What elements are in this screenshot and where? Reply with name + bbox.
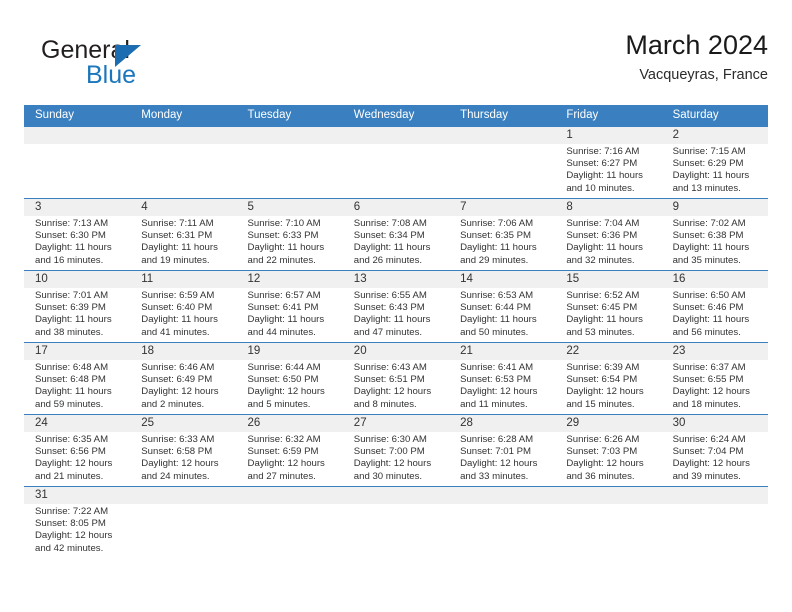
day-number: 12 [248,271,337,288]
day-daylight-line1: Daylight: 11 hours [248,314,337,326]
day-sunset: Sunset: 6:53 PM [460,374,549,386]
day-sunrise: Sunrise: 6:26 AM [566,434,655,446]
day-daylight-line2: and 24 minutes. [141,471,230,483]
day-sunset: Sunset: 6:48 PM [35,374,124,386]
day-daylight-line1: Daylight: 11 hours [35,386,124,398]
day-sun-info: Sunrise: 7:08 AMSunset: 6:34 PMDaylight:… [354,218,443,267]
day-cell[interactable]: 5Sunrise: 7:10 AMSunset: 6:33 PMDaylight… [237,199,343,270]
day-cell[interactable]: 11Sunrise: 6:59 AMSunset: 6:40 PMDayligh… [130,271,236,342]
day-sun-info: Sunrise: 6:24 AMSunset: 7:04 PMDaylight:… [673,434,762,483]
day-number: 7 [460,199,549,216]
day-sunset: Sunset: 7:04 PM [673,446,762,458]
calendar-week-row: 31Sunrise: 7:22 AMSunset: 8:05 PMDayligh… [24,486,768,564]
day-cell[interactable]: 12Sunrise: 6:57 AMSunset: 6:41 PMDayligh… [237,271,343,342]
day-number: 17 [35,343,124,360]
day-number: 3 [35,199,124,216]
day-sunset: Sunset: 6:58 PM [141,446,230,458]
day-number: 9 [673,199,762,216]
weekday-header-saturday: Saturday [662,105,768,126]
day-cell-empty [343,127,449,198]
day-daylight-line1: Daylight: 12 hours [35,458,124,470]
day-daylight-line1: Daylight: 11 hours [354,242,443,254]
day-daylight-line2: and 27 minutes. [248,471,337,483]
day-number: 6 [354,199,443,216]
day-sun-info: Sunrise: 6:48 AMSunset: 6:48 PMDaylight:… [35,362,124,411]
day-daylight-line1: Daylight: 11 hours [141,314,230,326]
day-daylight-line2: and 19 minutes. [141,255,230,267]
day-number: 4 [141,199,230,216]
title-block: March 2024 Vacqueyras, France [348,28,768,86]
day-sunrise: Sunrise: 7:15 AM [673,146,762,158]
day-number: 11 [141,271,230,288]
day-sun-info: Sunrise: 6:44 AMSunset: 6:50 PMDaylight:… [248,362,337,411]
day-sunset: Sunset: 6:29 PM [673,158,762,170]
day-sunset: Sunset: 6:34 PM [354,230,443,242]
day-sunset: Sunset: 6:38 PM [673,230,762,242]
day-daylight-line2: and 59 minutes. [35,399,124,411]
day-sunset: Sunset: 6:55 PM [673,374,762,386]
day-daylight-line2: and 26 minutes. [354,255,443,267]
day-sunset: Sunset: 6:45 PM [566,302,655,314]
calendar-page: General Blue March 2024 Vacqueyras, Fran… [0,0,792,612]
day-sun-info: Sunrise: 6:39 AMSunset: 6:54 PMDaylight:… [566,362,655,411]
day-daylight-line2: and 39 minutes. [673,471,762,483]
day-sun-info: Sunrise: 7:11 AMSunset: 6:31 PMDaylight:… [141,218,230,267]
day-sunset: Sunset: 7:00 PM [354,446,443,458]
day-daylight-line1: Daylight: 11 hours [35,242,124,254]
day-cell[interactable]: 17Sunrise: 6:48 AMSunset: 6:48 PMDayligh… [24,343,130,414]
day-daylight-line2: and 18 minutes. [673,399,762,411]
day-sun-info: Sunrise: 6:57 AMSunset: 6:41 PMDaylight:… [248,290,337,339]
calendar-week-row: 3Sunrise: 7:13 AMSunset: 6:30 PMDaylight… [24,198,768,270]
day-sunset: Sunset: 6:49 PM [141,374,230,386]
day-cell[interactable]: 31Sunrise: 7:22 AMSunset: 8:05 PMDayligh… [24,487,130,564]
day-cell[interactable]: 21Sunrise: 6:41 AMSunset: 6:53 PMDayligh… [449,343,555,414]
day-cell[interactable]: 7Sunrise: 7:06 AMSunset: 6:35 PMDaylight… [449,199,555,270]
day-cell[interactable]: 28Sunrise: 6:28 AMSunset: 7:01 PMDayligh… [449,415,555,486]
day-sun-info: Sunrise: 6:30 AMSunset: 7:00 PMDaylight:… [354,434,443,483]
day-daylight-line2: and 11 minutes. [460,399,549,411]
weekday-header-wednesday: Wednesday [343,105,449,126]
day-sun-info: Sunrise: 7:04 AMSunset: 6:36 PMDaylight:… [566,218,655,267]
day-daylight-line2: and 32 minutes. [566,255,655,267]
calendar-grid: SundayMondayTuesdayWednesdayThursdayFrid… [24,105,768,564]
day-daylight-line1: Daylight: 11 hours [673,314,762,326]
day-daylight-line2: and 8 minutes. [354,399,443,411]
day-sunset: Sunset: 6:35 PM [460,230,549,242]
day-sun-info: Sunrise: 7:10 AMSunset: 6:33 PMDaylight:… [248,218,337,267]
day-cell[interactable]: 16Sunrise: 6:50 AMSunset: 6:46 PMDayligh… [662,271,768,342]
day-daylight-line1: Daylight: 11 hours [566,314,655,326]
day-sun-info: Sunrise: 6:53 AMSunset: 6:44 PMDaylight:… [460,290,549,339]
day-daylight-line1: Daylight: 12 hours [248,458,337,470]
day-daylight-line2: and 36 minutes. [566,471,655,483]
day-sun-info: Sunrise: 6:37 AMSunset: 6:55 PMDaylight:… [673,362,762,411]
day-cell[interactable]: 1Sunrise: 7:16 AMSunset: 6:27 PMDaylight… [555,127,661,198]
day-number: 5 [248,199,337,216]
day-sun-info: Sunrise: 6:46 AMSunset: 6:49 PMDaylight:… [141,362,230,411]
day-daylight-line1: Daylight: 11 hours [673,242,762,254]
day-sunset: Sunset: 6:36 PM [566,230,655,242]
day-cell[interactable]: 29Sunrise: 6:26 AMSunset: 7:03 PMDayligh… [555,415,661,486]
day-daylight-line2: and 2 minutes. [141,399,230,411]
day-sunset: Sunset: 6:40 PM [141,302,230,314]
day-daylight-line1: Daylight: 11 hours [35,314,124,326]
day-sunrise: Sunrise: 7:02 AM [673,218,762,230]
day-sunrise: Sunrise: 6:44 AM [248,362,337,374]
day-number: 1 [566,127,655,144]
day-daylight-line2: and 30 minutes. [354,471,443,483]
day-cell[interactable]: 25Sunrise: 6:33 AMSunset: 6:58 PMDayligh… [130,415,236,486]
day-cell-empty [343,487,449,564]
day-sunset: Sunset: 7:03 PM [566,446,655,458]
day-sunrise: Sunrise: 7:10 AM [248,218,337,230]
day-sunset: Sunset: 6:50 PM [248,374,337,386]
day-sunset: Sunset: 6:39 PM [35,302,124,314]
day-daylight-line1: Daylight: 12 hours [35,530,124,542]
day-daylight-line1: Daylight: 12 hours [460,386,549,398]
day-sunrise: Sunrise: 7:11 AM [141,218,230,230]
day-number: 13 [354,271,443,288]
day-daylight-line2: and 22 minutes. [248,255,337,267]
day-cell[interactable]: 19Sunrise: 6:44 AMSunset: 6:50 PMDayligh… [237,343,343,414]
day-sun-info: Sunrise: 7:13 AMSunset: 6:30 PMDaylight:… [35,218,124,267]
day-daylight-line1: Daylight: 12 hours [141,386,230,398]
day-sunset: Sunset: 6:59 PM [248,446,337,458]
day-daylight-line2: and 53 minutes. [566,327,655,339]
day-daylight-line1: Daylight: 11 hours [460,314,549,326]
day-sunset: Sunset: 6:44 PM [460,302,549,314]
day-sun-info: Sunrise: 6:28 AMSunset: 7:01 PMDaylight:… [460,434,549,483]
day-daylight-line2: and 41 minutes. [141,327,230,339]
day-daylight-line1: Daylight: 11 hours [248,242,337,254]
day-sunset: Sunset: 6:51 PM [354,374,443,386]
general-blue-logo[interactable]: General Blue [41,36,271,96]
day-sunrise: Sunrise: 7:04 AM [566,218,655,230]
day-number: 15 [566,271,655,288]
day-sunrise: Sunrise: 6:30 AM [354,434,443,446]
day-sunset: Sunset: 6:30 PM [35,230,124,242]
day-sunset: Sunset: 6:31 PM [141,230,230,242]
day-number: 26 [248,415,337,432]
day-number: 21 [460,343,549,360]
day-sunrise: Sunrise: 6:57 AM [248,290,337,302]
day-number: 8 [566,199,655,216]
day-sunset: Sunset: 6:41 PM [248,302,337,314]
day-cell[interactable]: 15Sunrise: 6:52 AMSunset: 6:45 PMDayligh… [555,271,661,342]
day-cell-empty [449,127,555,198]
page-header: General Blue March 2024 Vacqueyras, Fran… [24,28,768,100]
day-cell[interactable]: 20Sunrise: 6:43 AMSunset: 6:51 PMDayligh… [343,343,449,414]
day-cell-empty [449,487,555,564]
day-cell[interactable]: 26Sunrise: 6:32 AMSunset: 6:59 PMDayligh… [237,415,343,486]
day-cell[interactable]: 10Sunrise: 7:01 AMSunset: 6:39 PMDayligh… [24,271,130,342]
calendar-week-row: 17Sunrise: 6:48 AMSunset: 6:48 PMDayligh… [24,342,768,414]
day-sunrise: Sunrise: 7:06 AM [460,218,549,230]
day-number: 19 [248,343,337,360]
weekday-header-friday: Friday [555,105,661,126]
day-cell[interactable]: 14Sunrise: 6:53 AMSunset: 6:44 PMDayligh… [449,271,555,342]
day-daylight-line1: Daylight: 11 hours [460,242,549,254]
day-sunrise: Sunrise: 6:35 AM [35,434,124,446]
day-sun-info: Sunrise: 6:52 AMSunset: 6:45 PMDaylight:… [566,290,655,339]
day-daylight-line1: Daylight: 11 hours [673,170,762,182]
day-sun-info: Sunrise: 7:22 AMSunset: 8:05 PMDaylight:… [35,506,124,555]
day-number: 16 [673,271,762,288]
day-sun-info: Sunrise: 7:02 AMSunset: 6:38 PMDaylight:… [673,218,762,267]
day-cell-empty [24,127,130,198]
day-daylight-line2: and 10 minutes. [566,183,655,195]
day-daylight-line2: and 56 minutes. [673,327,762,339]
day-number: 20 [354,343,443,360]
day-daylight-line1: Daylight: 12 hours [566,458,655,470]
day-daylight-line2: and 21 minutes. [35,471,124,483]
day-sunset: Sunset: 6:46 PM [673,302,762,314]
day-number: 23 [673,343,762,360]
day-cell[interactable]: 6Sunrise: 7:08 AMSunset: 6:34 PMDaylight… [343,199,449,270]
weekday-header-row: SundayMondayTuesdayWednesdayThursdayFrid… [24,105,768,126]
day-daylight-line2: and 47 minutes. [354,327,443,339]
day-daylight-line1: Daylight: 12 hours [673,386,762,398]
day-daylight-line2: and 15 minutes. [566,399,655,411]
day-sun-info: Sunrise: 7:01 AMSunset: 6:39 PMDaylight:… [35,290,124,339]
day-sunrise: Sunrise: 7:08 AM [354,218,443,230]
day-number: 31 [35,487,124,504]
day-daylight-line2: and 35 minutes. [673,255,762,267]
day-sun-info: Sunrise: 6:35 AMSunset: 6:56 PMDaylight:… [35,434,124,483]
logo-text-blue: Blue [86,61,136,90]
day-sunrise: Sunrise: 7:13 AM [35,218,124,230]
day-daylight-line1: Daylight: 11 hours [566,242,655,254]
weekday-header-sunday: Sunday [24,105,130,126]
day-sunrise: Sunrise: 7:16 AM [566,146,655,158]
day-daylight-line2: and 38 minutes. [35,327,124,339]
day-sunrise: Sunrise: 7:01 AM [35,290,124,302]
day-sunset: Sunset: 7:01 PM [460,446,549,458]
day-cell[interactable]: 23Sunrise: 6:37 AMSunset: 6:55 PMDayligh… [662,343,768,414]
day-sun-info: Sunrise: 7:16 AMSunset: 6:27 PMDaylight:… [566,146,655,195]
day-daylight-line1: Daylight: 11 hours [141,242,230,254]
day-sunrise: Sunrise: 6:43 AM [354,362,443,374]
day-daylight-line1: Daylight: 12 hours [566,386,655,398]
day-daylight-line1: Daylight: 12 hours [141,458,230,470]
day-cell[interactable]: 30Sunrise: 6:24 AMSunset: 7:04 PMDayligh… [662,415,768,486]
day-sunrise: Sunrise: 6:52 AM [566,290,655,302]
calendar-week-row: 1Sunrise: 7:16 AMSunset: 6:27 PMDaylight… [24,126,768,198]
day-daylight-line1: Daylight: 12 hours [354,458,443,470]
day-sunset: Sunset: 6:54 PM [566,374,655,386]
weekday-header-tuesday: Tuesday [237,105,343,126]
day-sunset: Sunset: 6:56 PM [35,446,124,458]
day-sunrise: Sunrise: 6:53 AM [460,290,549,302]
day-cell[interactable]: 27Sunrise: 6:30 AMSunset: 7:00 PMDayligh… [343,415,449,486]
day-number: 29 [566,415,655,432]
day-sunset: Sunset: 6:27 PM [566,158,655,170]
day-cell[interactable]: 18Sunrise: 6:46 AMSunset: 6:49 PMDayligh… [130,343,236,414]
day-sunrise: Sunrise: 6:37 AM [673,362,762,374]
day-daylight-line2: and 16 minutes. [35,255,124,267]
day-daylight-line2: and 33 minutes. [460,471,549,483]
day-daylight-line2: and 50 minutes. [460,327,549,339]
day-sun-info: Sunrise: 6:33 AMSunset: 6:58 PMDaylight:… [141,434,230,483]
calendar-week-row: 24Sunrise: 6:35 AMSunset: 6:56 PMDayligh… [24,414,768,486]
day-daylight-line1: Daylight: 11 hours [354,314,443,326]
day-number: 2 [673,127,762,144]
day-sunset: Sunset: 6:43 PM [354,302,443,314]
day-number: 30 [673,415,762,432]
day-cell[interactable]: 8Sunrise: 7:04 AMSunset: 6:36 PMDaylight… [555,199,661,270]
day-sunset: Sunset: 6:33 PM [248,230,337,242]
calendar-week-row: 10Sunrise: 7:01 AMSunset: 6:39 PMDayligh… [24,270,768,342]
day-sun-info: Sunrise: 6:41 AMSunset: 6:53 PMDaylight:… [460,362,549,411]
day-sun-info: Sunrise: 7:15 AMSunset: 6:29 PMDaylight:… [673,146,762,195]
day-sunrise: Sunrise: 6:28 AM [460,434,549,446]
day-sun-info: Sunrise: 7:06 AMSunset: 6:35 PMDaylight:… [460,218,549,267]
day-sunrise: Sunrise: 6:41 AM [460,362,549,374]
day-sunrise: Sunrise: 6:50 AM [673,290,762,302]
day-number: 25 [141,415,230,432]
day-cell-empty [130,127,236,198]
day-sunrise: Sunrise: 6:59 AM [141,290,230,302]
day-daylight-line2: and 5 minutes. [248,399,337,411]
day-sunrise: Sunrise: 6:48 AM [35,362,124,374]
day-sun-info: Sunrise: 6:59 AMSunset: 6:40 PMDaylight:… [141,290,230,339]
day-number: 10 [35,271,124,288]
day-cell[interactable]: 22Sunrise: 6:39 AMSunset: 6:54 PMDayligh… [555,343,661,414]
day-cell[interactable]: 24Sunrise: 6:35 AMSunset: 6:56 PMDayligh… [24,415,130,486]
day-daylight-line2: and 42 minutes. [35,543,124,555]
day-cell-empty [130,487,236,564]
day-daylight-line1: Daylight: 11 hours [566,170,655,182]
day-cell[interactable]: 13Sunrise: 6:55 AMSunset: 6:43 PMDayligh… [343,271,449,342]
day-sunrise: Sunrise: 6:24 AM [673,434,762,446]
day-cell-empty [237,487,343,564]
day-daylight-line2: and 13 minutes. [673,183,762,195]
day-daylight-line2: and 44 minutes. [248,327,337,339]
day-sunrise: Sunrise: 6:39 AM [566,362,655,374]
day-number: 24 [35,415,124,432]
day-sunrise: Sunrise: 6:55 AM [354,290,443,302]
calendar-weeks: 1Sunrise: 7:16 AMSunset: 6:27 PMDaylight… [24,126,768,564]
day-daylight-line1: Daylight: 12 hours [248,386,337,398]
day-sun-info: Sunrise: 6:26 AMSunset: 7:03 PMDaylight:… [566,434,655,483]
day-cell-empty [237,127,343,198]
day-sun-info: Sunrise: 6:32 AMSunset: 6:59 PMDaylight:… [248,434,337,483]
weekday-header-monday: Monday [130,105,236,126]
day-number: 14 [460,271,549,288]
day-cell[interactable]: 4Sunrise: 7:11 AMSunset: 6:31 PMDaylight… [130,199,236,270]
day-sun-info: Sunrise: 6:43 AMSunset: 6:51 PMDaylight:… [354,362,443,411]
day-number: 22 [566,343,655,360]
day-daylight-line1: Daylight: 12 hours [460,458,549,470]
day-cell[interactable]: 3Sunrise: 7:13 AMSunset: 6:30 PMDaylight… [24,199,130,270]
day-sun-info: Sunrise: 6:55 AMSunset: 6:43 PMDaylight:… [354,290,443,339]
day-daylight-line1: Daylight: 12 hours [354,386,443,398]
day-cell[interactable]: 9Sunrise: 7:02 AMSunset: 6:38 PMDaylight… [662,199,768,270]
day-cell-empty [662,487,768,564]
day-sun-info: Sunrise: 6:50 AMSunset: 6:46 PMDaylight:… [673,290,762,339]
day-sunset: Sunset: 8:05 PM [35,518,124,530]
day-daylight-line1: Daylight: 12 hours [673,458,762,470]
day-cell[interactable]: 2Sunrise: 7:15 AMSunset: 6:29 PMDaylight… [662,127,768,198]
day-number: 28 [460,415,549,432]
day-number: 18 [141,343,230,360]
weekday-header-thursday: Thursday [449,105,555,126]
day-daylight-line2: and 29 minutes. [460,255,549,267]
page-subtitle: Vacqueyras, France [348,64,768,86]
day-sunrise: Sunrise: 6:46 AM [141,362,230,374]
day-number: 27 [354,415,443,432]
day-cell-empty [555,487,661,564]
day-sunrise: Sunrise: 6:33 AM [141,434,230,446]
day-sunrise: Sunrise: 6:32 AM [248,434,337,446]
day-sunrise: Sunrise: 7:22 AM [35,506,124,518]
page-title: March 2024 [348,28,768,62]
